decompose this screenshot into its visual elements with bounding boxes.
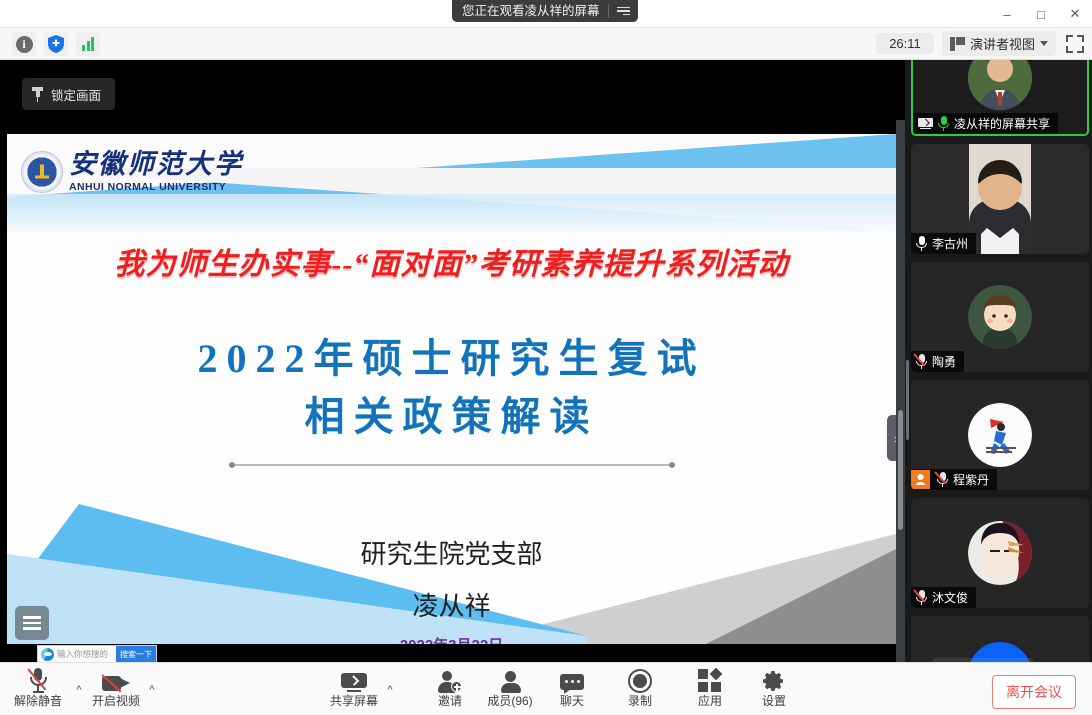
participant-nameplate: 沐文俊 — [911, 587, 976, 608]
participant-media: 导 — [911, 616, 1089, 662]
toolbar-status-icons: i — [12, 32, 100, 56]
slide-title-line1: 2022年硕士研究生复试 — [7, 326, 896, 384]
shared-screen-stage[interactable]: 锁定画面 安徽师范大学 ANHUI NORMAL UNIVERSITY 我为师生… — [0, 60, 905, 662]
microphone-muted-icon — [937, 472, 948, 487]
avatar — [968, 285, 1032, 349]
participant-nameplate: 李古州 — [911, 233, 976, 254]
participant-tile-4[interactable]: 沐文俊 — [911, 498, 1089, 608]
participant-name: 沐文俊 — [932, 589, 968, 606]
search-button[interactable]: 搜索一下 — [116, 646, 156, 662]
participant-name: 陶勇 — [932, 353, 956, 370]
record-button[interactable]: 录制 — [608, 667, 672, 707]
list-icon — [23, 616, 41, 630]
mute-button[interactable]: 解除静音 — [6, 667, 70, 707]
lock-view-label: 锁定画面 — [51, 85, 101, 104]
university-seal-icon — [21, 151, 63, 193]
slide-title-line2: 相关政策解读 — [7, 384, 896, 442]
microphone-on-icon — [916, 236, 927, 251]
participant-tile-0[interactable]: 凌从祥的屏幕共享 — [911, 60, 1089, 136]
slide-outline-button[interactable] — [15, 606, 49, 640]
settings-button[interactable]: 设置 — [742, 667, 806, 707]
info-icon: i — [16, 36, 33, 53]
avatar — [968, 521, 1032, 585]
share-screen-icon — [341, 667, 367, 693]
record-icon — [628, 667, 652, 693]
apps-grid-icon — [698, 667, 722, 693]
window-controls[interactable]: – □ ✕ — [990, 0, 1092, 28]
participant-tile-2[interactable]: 陶勇 — [911, 262, 1089, 372]
browser-search-box[interactable]: 输入你想搜的 搜索一下 — [37, 645, 157, 662]
apps-button-label: 应用 — [698, 695, 722, 707]
maximize-button[interactable]: □ — [1024, 0, 1058, 28]
participant-nameplate: 陶勇 — [911, 351, 964, 372]
pin-icon — [32, 87, 43, 102]
add-person-icon — [438, 667, 462, 693]
banner-menu-icon[interactable] — [617, 7, 632, 16]
window-title-bar: 您正在观看凌从祥的屏幕 – □ ✕ — [0, 0, 1092, 28]
speaker-view-icon — [950, 37, 965, 51]
screen-share-banner[interactable]: 您正在观看凌从祥的屏幕 — [452, 0, 638, 22]
participant-nameplate: 凌从祥的屏幕共享 — [913, 113, 1058, 134]
apps-button[interactable]: 应用 — [678, 667, 742, 707]
minimize-button[interactable]: – — [990, 0, 1024, 28]
screen-share-banner-text: 您正在观看凌从祥的屏幕 — [462, 0, 600, 22]
stage-scrollbar-thumb[interactable] — [898, 410, 903, 530]
browser-icon — [41, 648, 54, 661]
presentation-slide: 安徽师范大学 ANHUI NORMAL UNIVERSITY 我为师生办实事--… — [7, 134, 896, 644]
shared-content: 安徽师范大学 ANHUI NORMAL UNIVERSITY 我为师生办实事--… — [7, 134, 896, 662]
view-mode-label: 演讲者视图 — [970, 34, 1035, 53]
slide-presenter-name: 凌从祥 — [7, 586, 896, 623]
microphone-muted-icon — [916, 354, 927, 369]
share-screen-button[interactable]: 共享屏幕 — [322, 667, 386, 707]
participant-tile-5[interactable]: 导 — [911, 616, 1089, 662]
video-options-chevron-icon[interactable]: ^ — [145, 683, 159, 697]
microphone-muted-icon — [916, 590, 927, 605]
university-logo: 安徽师范大学 ANHUI NORMAL UNIVERSITY — [21, 151, 243, 193]
meeting-controls-bar: 解除静音 ^ 开启视频 ^ 共享屏幕 ^ 邀请 成员(96) 聊天 录制 — [0, 662, 1092, 715]
gear-icon — [762, 667, 786, 693]
host-badge-icon — [911, 470, 930, 489]
shield-icon — [48, 35, 64, 53]
invite-button[interactable]: 邀请 — [418, 667, 482, 707]
avatar — [968, 60, 1032, 110]
slide-divider — [232, 464, 672, 466]
share-options-chevron-icon[interactable]: ^ — [383, 683, 397, 697]
lock-view-button[interactable]: 锁定画面 — [22, 78, 115, 110]
meeting-info-button[interactable]: i — [12, 32, 36, 56]
divider — [608, 4, 609, 18]
chevron-down-icon[interactable] — [1040, 41, 1048, 46]
close-button[interactable]: ✕ — [1058, 0, 1092, 28]
participant-rail[interactable]: 凌从祥的屏幕共享 李古州 — [905, 60, 1092, 662]
avatar — [968, 403, 1032, 467]
record-button-label: 录制 — [628, 695, 652, 707]
share-screen-button-label: 共享屏幕 — [330, 695, 378, 707]
invite-button-label: 邀请 — [438, 695, 462, 707]
rail-scrollbar-thumb[interactable] — [906, 360, 909, 440]
rail-scrollbar[interactable] — [905, 60, 910, 662]
screen-share-icon — [918, 118, 933, 130]
microphone-muted-icon — [29, 667, 48, 693]
toolbar-right-group: 26:11 演讲者视图 — [876, 31, 1084, 56]
participant-nameplate: 程紫丹 — [911, 469, 997, 490]
slide-date: 2022年3月22日 — [7, 634, 896, 644]
network-signal-icon — [82, 37, 94, 51]
participant-tile-1[interactable]: 李古州 — [911, 144, 1089, 254]
view-mode-selector[interactable]: 演讲者视图 — [942, 31, 1056, 56]
chat-button[interactable]: 聊天 — [540, 667, 604, 707]
participant-tile-3[interactable]: 程紫丹 — [911, 380, 1089, 490]
people-icon — [499, 667, 521, 693]
chat-bubble-icon — [560, 667, 584, 693]
video-button-label: 开启视频 — [92, 695, 140, 707]
university-name-cn: 安徽师范大学 — [69, 151, 243, 178]
stage-scrollbar[interactable] — [896, 120, 905, 662]
university-name-en: ANHUI NORMAL UNIVERSITY — [69, 181, 243, 193]
participant-name: 李古州 — [932, 235, 968, 252]
chat-button-label: 聊天 — [560, 695, 584, 707]
settings-button-label: 设置 — [762, 695, 786, 707]
desktop-taskbar-strip: 输入你想搜的 搜索一下 — [7, 644, 896, 662]
leave-meeting-button[interactable]: 离开会议 — [992, 675, 1076, 709]
microphone-on-icon — [938, 116, 949, 131]
slide-slogan: 我为师生办实事--“面对面”考研素养提升系列活动 — [7, 239, 896, 283]
participant-name: 凌从祥的屏幕共享 — [954, 115, 1050, 132]
participant-video — [969, 144, 1031, 254]
participant-name: 程紫丹 — [953, 471, 989, 488]
participants-button-label: 成员(96) — [487, 695, 532, 707]
network-button[interactable] — [76, 32, 100, 56]
slide-presenter-org: 研究生院党支部 — [7, 534, 896, 571]
mute-button-label: 解除静音 — [14, 695, 62, 707]
security-button[interactable] — [44, 32, 68, 56]
meeting-toolbar: i 26:11 演讲者视图 — [0, 28, 1092, 60]
participants-button[interactable]: 成员(96) — [478, 667, 542, 707]
video-button[interactable]: 开启视频 — [84, 667, 148, 707]
search-placeholder: 输入你想搜的 — [57, 648, 108, 660]
slide-header-fade — [7, 194, 896, 238]
camera-off-icon — [102, 667, 130, 693]
meeting-timer: 26:11 — [876, 33, 934, 54]
fullscreen-button[interactable] — [1066, 35, 1084, 53]
